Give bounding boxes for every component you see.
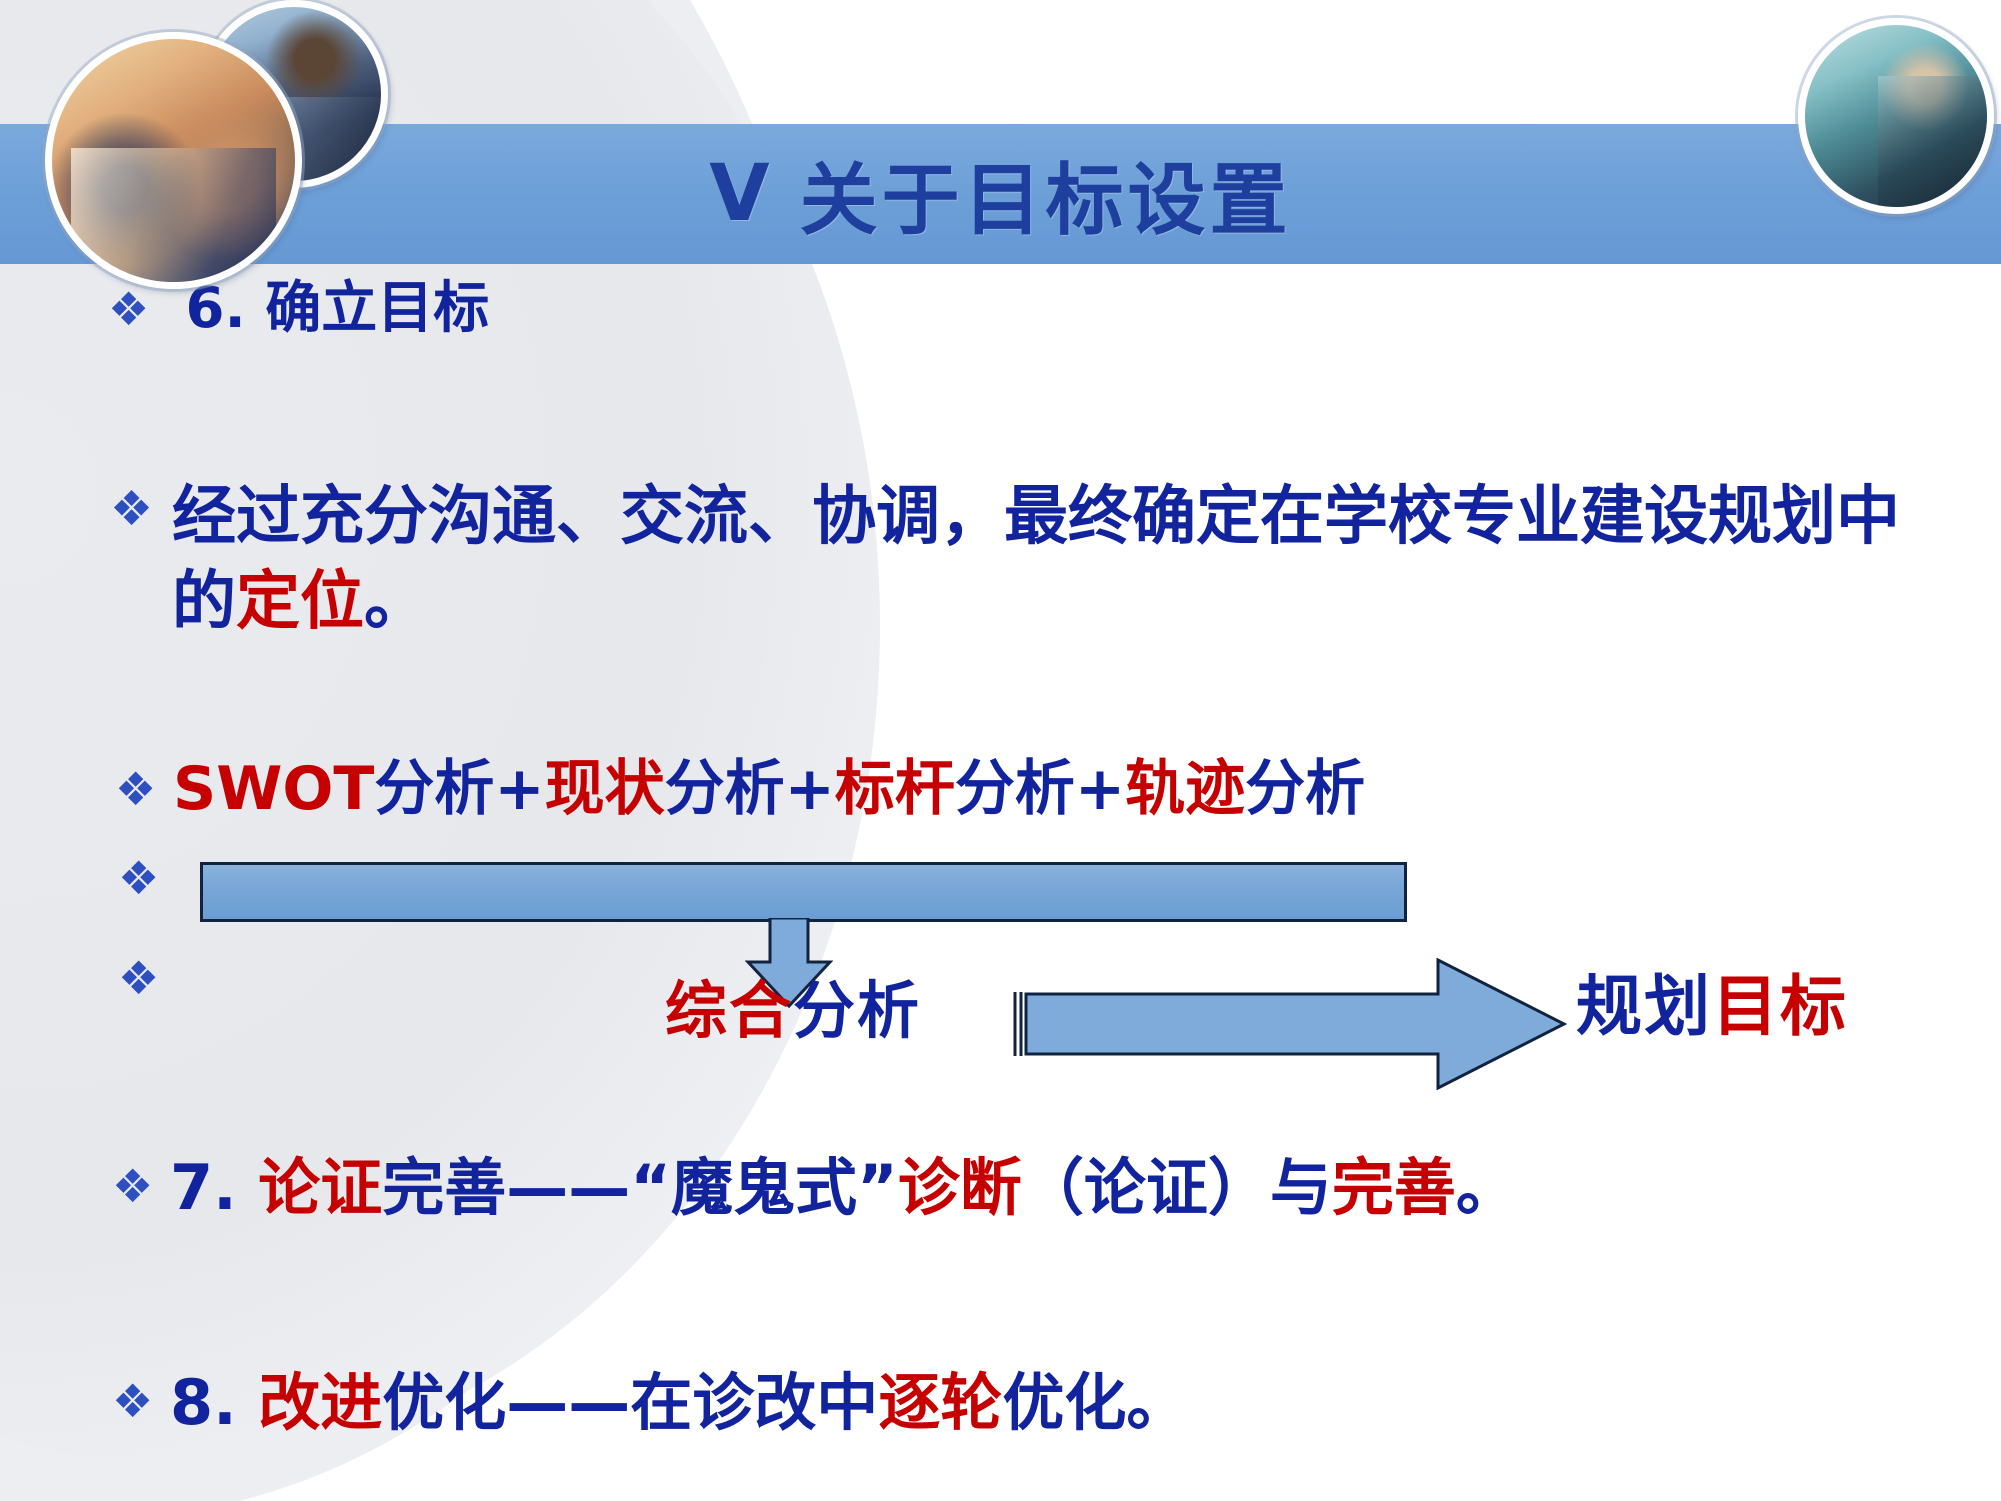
bullet-item-8-label: 8. 改进优化——在诊改中逐轮优化。 <box>170 1370 1188 1435</box>
bullet-item-6-label: 6. 确立目标 <box>166 280 489 339</box>
swot-seg-analysis-4: 分析 <box>1245 754 1365 824</box>
presenter-at-whiteboard-photo <box>1798 18 1994 214</box>
paragraph-line1: 经过充分沟通、交流、协调，最终确定在学校专业建设规 <box>172 480 1772 554</box>
bullet-diamond-icon: ❖ <box>118 855 176 901</box>
bullet-item-positioning: ❖ 经过充分沟通、交流、协调，最终确定在学校专业建设规划中的定位。 <box>110 475 1950 645</box>
swot-formula: SWOT分析+现状分析+标杆分析+轨迹分析 <box>173 758 1365 821</box>
bullet-diamond-icon: ❖ <box>112 1378 170 1424</box>
item8-seg-number: 8. <box>170 1366 258 1439</box>
bullet-item-diagram-row-2: ❖ <box>118 955 176 1001</box>
bullet-item-8: ❖ 8. 改进优化——在诊改中逐轮优化。 <box>112 1370 1188 1435</box>
item7-seg-refine: 完善——“魔鬼式” <box>382 1151 898 1224</box>
item7-seg-demonstration: 论证 <box>258 1151 382 1224</box>
slide-canvas: V 关于目标设置 综合分析 规划目标 ❖ <box>0 0 2001 1501</box>
bullet-item-6: ❖ 6. 确立目标 <box>108 280 489 339</box>
item8-seg-round-by-round: 逐轮 <box>878 1366 1002 1439</box>
bullet-diamond-icon: ❖ <box>112 1163 170 1209</box>
item8-seg-improvement: 改进 <box>258 1366 382 1439</box>
item8-seg-optimize: 优化——在诊改中 <box>382 1366 878 1439</box>
item7-seg-number: 7. <box>170 1151 258 1224</box>
bullet-item-7-label: 7. 论证完善——“魔鬼式”诊断（论证）与完善。 <box>170 1155 1518 1220</box>
swot-seg-current-status: 现状 <box>545 754 665 824</box>
swot-seg-swot: SWOT <box>173 754 374 824</box>
bullet-diamond-icon: ❖ <box>118 955 176 1001</box>
bullet-item-7: ❖ 7. 论证完善——“魔鬼式”诊断（论证）与完善。 <box>112 1155 1518 1220</box>
item8-seg-tail: 优化。 <box>1002 1366 1188 1439</box>
swot-seg-analysis-1: 分析+ <box>374 754 544 824</box>
bullet-diamond-icon: ❖ <box>110 485 172 533</box>
item7-seg-diagnosis: 诊断 <box>898 1151 1022 1224</box>
swot-seg-analysis-2: 分析+ <box>665 754 835 824</box>
positioning-paragraph: 经过充分沟通、交流、协调，最终确定在学校专业建设规划中的定位。 <box>172 475 1950 645</box>
slide-body: ❖ 6. 确立目标 ❖ 经过充分沟通、交流、协调，最终确定在学校专业建设规划中的… <box>0 0 2001 1501</box>
bullet-item-diagram-row-1: ❖ <box>118 855 176 901</box>
item7-seg-parenthetical: （论证）与 <box>1022 1151 1332 1224</box>
paragraph-line2-suffix: 。 <box>364 565 428 639</box>
swot-seg-analysis-3: 分析+ <box>955 754 1125 824</box>
swot-seg-benchmark: 标杆 <box>835 754 955 824</box>
item7-seg-period: 。 <box>1456 1151 1518 1224</box>
bullet-diamond-icon: ❖ <box>115 766 173 812</box>
two-colleagues-at-laptop-photo <box>45 32 302 289</box>
swot-seg-trajectory: 轨迹 <box>1125 754 1245 824</box>
bullet-item-swot: ❖ SWOT分析+现状分析+标杆分析+轨迹分析 <box>115 758 1365 821</box>
bullet-diamond-icon: ❖ <box>108 286 166 332</box>
paragraph-highlight-positioning: 定位 <box>236 565 364 639</box>
item7-seg-improve: 完善 <box>1332 1151 1456 1224</box>
